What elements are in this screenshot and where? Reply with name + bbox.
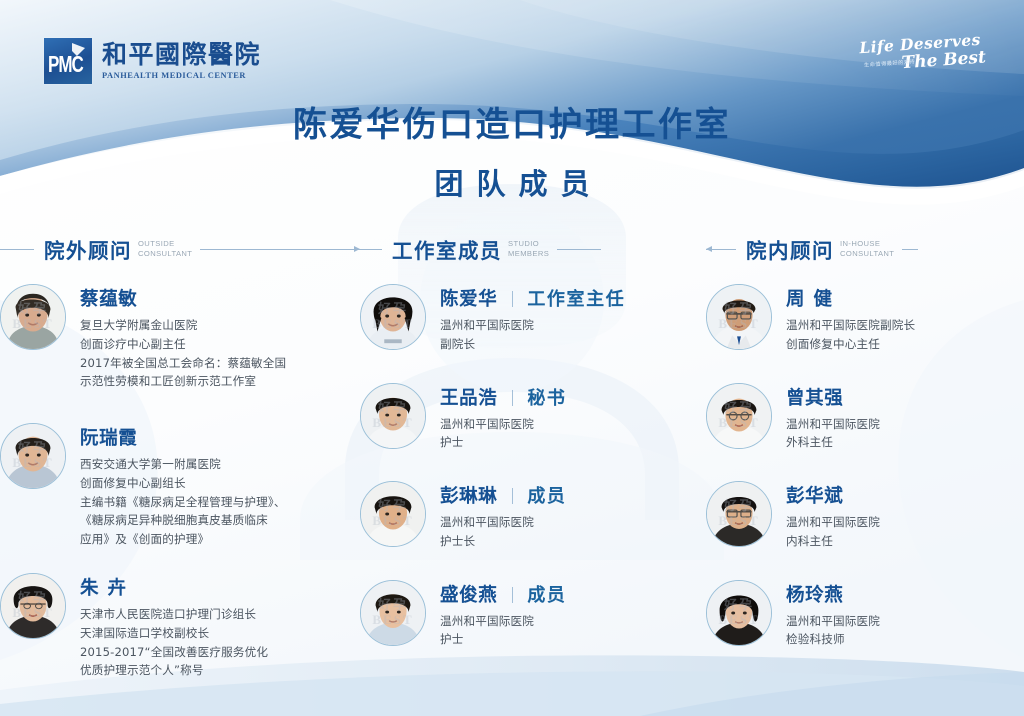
list-item[interactable]: 好孕 BEST 杨玲燕 温州和平国际医院 检验科技师 (706, 580, 1024, 650)
member-details: 西安交通大学第一附属医院 创面修复中心副组长 主编书籍《糖尿病足全程管理与护理》… (80, 455, 286, 549)
detail-line: 护士 (440, 433, 567, 452)
member-info: 蔡蕴敏 复旦大学附属金山医院 创面诊疗中心副主任 2017年被全国总工会命名：蔡… (80, 284, 286, 391)
pmc-logo-mark: PMC (44, 38, 92, 84)
avatar: 好孕 BEST (360, 383, 426, 449)
section-en-line1: IN-HOUSE (840, 239, 894, 249)
list-item[interactable]: 好孕 BEST 王品浩 ｜ 秘书 温州和平国际医院 护士 (360, 383, 706, 453)
avatar: 好孕 BEST (0, 573, 66, 639)
brand-logo: PMC 和平國際醫院 PANHEALTH MEDICAL CENTER (44, 38, 261, 84)
brand-name-en: PANHEALTH MEDICAL CENTER (102, 71, 261, 80)
member-name-line: 周健 (786, 285, 915, 311)
member-details: 温州和平国际医院 外科主任 (786, 415, 880, 453)
member-name-line: 杨玲燕 (786, 581, 880, 607)
detail-line: 副院长 (440, 335, 625, 354)
member-name-line: 朱卉 (80, 574, 268, 600)
member-info: 王品浩 ｜ 秘书 温州和平国际医院 护士 (440, 383, 567, 453)
column-in-house-consultant: 院内顾问 IN-HOUSE CONSULTANT 好孕 BEST (706, 232, 1024, 649)
section-title-cn: 院外顾问 (34, 234, 138, 264)
detail-line: 温州和平国际医院副院长 (786, 316, 915, 335)
member-name: 朱卉 (80, 574, 135, 600)
detail-line: 创面修复中心主任 (786, 335, 915, 354)
member-list: 好孕 BEST 陈爱华 ｜ 工作室主任 温州和平国际医院 副院长 (360, 284, 706, 649)
member-role: 成员 (527, 482, 566, 508)
member-info: 朱卉 天津市人民医院造口护理门诊组长 天津国际造口学校副校长 2015-2017… (80, 573, 268, 680)
member-name-line: 彭华斌 (786, 482, 880, 508)
detail-line: 温州和平国际医院 (440, 612, 567, 631)
detail-line: 天津国际造口学校副校长 (80, 624, 268, 643)
rule-right (557, 249, 601, 250)
member-role: 成员 (527, 581, 566, 607)
detail-line: 温州和平国际医院 (786, 612, 880, 631)
member-info: 陈爱华 ｜ 工作室主任 温州和平国际医院 副院长 (440, 284, 625, 354)
detail-line: 温州和平国际医院 (440, 316, 625, 335)
member-details: 温州和平国际医院 检验科技师 (786, 612, 880, 650)
member-info: 曾其强 温州和平国际医院 外科主任 (786, 383, 880, 453)
list-item[interactable]: 好孕 BEST 朱卉 天津市人民医院造口护理门诊组长 天津国际造口学校副校长 2… (0, 573, 360, 680)
member-info: 彭琳琳 ｜ 成员 温州和平国际医院 护士长 (440, 481, 567, 551)
list-item[interactable]: 好孕 BEST 周健 温州和平国际医院副院长 创面修复中心主任 (706, 284, 1024, 354)
section-en-line1: OUTSIDE (138, 239, 192, 249)
avatar: 好孕 BEST (706, 284, 772, 350)
brand-name-block: 和平國際醫院 PANHEALTH MEDICAL CENTER (102, 42, 261, 80)
rule-left (0, 249, 34, 250)
detail-line: 2017年被全国总工会命名：蔡蕴敏全国 (80, 354, 286, 373)
detail-line: 创面诊疗中心副主任 (80, 335, 286, 354)
member-name-line: 曾其强 (786, 384, 880, 410)
member-info: 周健 温州和平国际医院副院长 创面修复中心主任 (786, 284, 915, 354)
member-details: 温州和平国际医院 护士长 (440, 513, 567, 551)
section-header: 工作室成员 STUDIO MEMBERS (360, 232, 706, 266)
member-role: 工作室主任 (527, 285, 625, 311)
page-title: 陈爱华伤口造口护理工作室 (0, 104, 1024, 147)
detail-line: 主编书籍《糖尿病足全程管理与护理》、 (80, 493, 286, 512)
section-title-en: STUDIO MEMBERS (508, 239, 557, 259)
detail-line: 示范性劳模和工匠创新示范工作室 (80, 372, 286, 391)
avatar: 好孕 BEST (360, 284, 426, 350)
member-name: 陈爱华 (440, 285, 497, 311)
detail-line: 护士 (440, 630, 567, 649)
member-details: 天津市人民医院造口护理门诊组长 天津国际造口学校副校长 2015-2017“全国… (80, 605, 268, 680)
rule-left-arrow (706, 249, 736, 250)
member-name-line: 阮瑞霞 (80, 424, 286, 450)
detail-line: 《糖尿病足异种脱细胞真皮基质临床 (80, 511, 286, 530)
section-en-line2: CONSULTANT (138, 249, 192, 259)
member-details: 温州和平国际医院 副院长 (440, 316, 625, 354)
section-header: 院内顾问 IN-HOUSE CONSULTANT (706, 232, 1024, 266)
detail-line: 温州和平国际医院 (786, 513, 880, 532)
member-details: 温州和平国际医院 内科主任 (786, 513, 880, 551)
member-name: 周健 (786, 285, 841, 311)
list-item[interactable]: 好孕 BEST 曾其强 温州和平国际医院 外科主任 (706, 383, 1024, 453)
avatar: 好孕 BEST (360, 481, 426, 547)
detail-line: 创面修复中心副组长 (80, 474, 286, 493)
list-item[interactable]: 好孕 BEST 阮瑞霞 西安交通大学第一附属医院 创面修复中心副组长 主编书籍《… (0, 423, 360, 549)
member-name-line: 彭琳琳 ｜ 成员 (440, 482, 567, 508)
detail-line: 西安交通大学第一附属医院 (80, 455, 286, 474)
list-item[interactable]: 好孕 BEST 盛俊燕 ｜ 成员 温州和平国际医院 护士 (360, 580, 706, 650)
member-role: 秘书 (527, 384, 566, 410)
name-role-divider: ｜ (504, 385, 520, 409)
member-name: 彭琳琳 (440, 482, 497, 508)
member-name-line: 王品浩 ｜ 秘书 (440, 384, 567, 410)
detail-line: 温州和平国际医院 (440, 513, 567, 532)
page-subtitle: 团队成员 (0, 161, 1024, 203)
detail-line: 复旦大学附属金山医院 (80, 316, 286, 335)
detail-line: 温州和平国际医院 (440, 415, 567, 434)
name-role-divider: ｜ (504, 582, 520, 606)
rule-right-arrow (200, 249, 360, 250)
detail-line: 护士长 (440, 532, 567, 551)
member-details: 复旦大学附属金山医院 创面诊疗中心副主任 2017年被全国总工会命名：蔡蕴敏全国… (80, 316, 286, 391)
section-title-cn: 院内顾问 (736, 234, 840, 264)
detail-line: 外科主任 (786, 433, 880, 452)
list-item[interactable]: 好孕 BEST 彭华斌 温州和平国际医院 内科主任 (706, 481, 1024, 551)
section-title-en: OUTSIDE CONSULTANT (138, 239, 200, 259)
logo-mark-text: PMC (44, 53, 83, 84)
member-name: 彭华斌 (786, 482, 843, 508)
poster-canvas: PMC 和平國際醫院 PANHEALTH MEDICAL CENTER Life… (0, 0, 1024, 716)
avatar: 好孕 BEST (706, 383, 772, 449)
column-outside-consultant: 院外顾问 OUTSIDE CONSULTANT 好孕 BEST (0, 232, 360, 680)
name-role-divider: ｜ (504, 286, 520, 310)
avatar: 好孕 BEST (706, 481, 772, 547)
member-name: 阮瑞霞 (80, 424, 137, 450)
rule-left (360, 249, 382, 250)
detail-line: 检验科技师 (786, 630, 880, 649)
section-title-en: IN-HOUSE CONSULTANT (840, 239, 902, 259)
member-details: 温州和平国际医院副院长 创面修复中心主任 (786, 316, 915, 354)
name-role-divider: ｜ (504, 483, 520, 507)
section-header: 院外顾问 OUTSIDE CONSULTANT (0, 232, 360, 266)
member-name: 王品浩 (440, 384, 497, 410)
title-block: 陈爱华伤口造口护理工作室 团队成员 (0, 104, 1024, 203)
member-details: 温州和平国际医院 护士 (440, 612, 567, 650)
section-title-cn: 工作室成员 (382, 234, 508, 264)
poster-header: PMC 和平國際醫院 PANHEALTH MEDICAL CENTER Life… (0, 0, 1024, 104)
brand-tagline: Life Deserves The Best 生命值得最好的对待 (850, 34, 990, 80)
detail-line: 天津市人民医院造口护理门诊组长 (80, 605, 268, 624)
detail-line: 温州和平国际医院 (786, 415, 880, 434)
section-en-line2: MEMBERS (508, 249, 549, 259)
member-name: 曾其强 (786, 384, 843, 410)
column-studio-members: 工作室成员 STUDIO MEMBERS 好孕 BEST (360, 232, 706, 649)
section-en-line1: STUDIO (508, 239, 549, 249)
member-list: 好孕 BEST 周健 温州和平国际医院副院长 创面修复中心主任 (706, 284, 1024, 649)
member-info: 杨玲燕 温州和平国际医院 检验科技师 (786, 580, 880, 650)
rule-right (902, 249, 918, 250)
avatar: 好孕 BEST (706, 580, 772, 646)
avatar: 好孕 BEST (360, 580, 426, 646)
member-name-line: 陈爱华 ｜ 工作室主任 (440, 285, 625, 311)
list-item[interactable]: 好孕 BEST 蔡蕴敏 复旦大学附属金山医院 创面诊疗中心副主任 2017年被全… (0, 284, 360, 391)
member-info: 彭华斌 温州和平国际医院 内科主任 (786, 481, 880, 551)
list-item[interactable]: 好孕 BEST 陈爱华 ｜ 工作室主任 温州和平国际医院 副院长 (360, 284, 706, 354)
detail-line: 应用》及《创面的护理》 (80, 530, 286, 549)
member-list: 好孕 BEST 蔡蕴敏 复旦大学附属金山医院 创面诊疗中心副主任 2017年被全… (0, 284, 360, 680)
avatar: 好孕 BEST (0, 284, 66, 350)
detail-line: 内科主任 (786, 532, 880, 551)
list-item[interactable]: 好孕 BEST 彭琳琳 ｜ 成员 温州和平国际医院 护士长 (360, 481, 706, 551)
member-info: 阮瑞霞 西安交通大学第一附属医院 创面修复中心副组长 主编书籍《糖尿病足全程管理… (80, 423, 286, 549)
member-name: 盛俊燕 (440, 581, 497, 607)
detail-line: 优质护理示范个人”称号 (80, 661, 268, 680)
member-info: 盛俊燕 ｜ 成员 温州和平国际医院 护士 (440, 580, 567, 650)
member-name: 杨玲燕 (786, 581, 843, 607)
detail-line: 2015-2017“全国改善医疗服务优化 (80, 643, 268, 662)
member-name: 蔡蕴敏 (80, 285, 137, 311)
member-details: 温州和平国际医院 护士 (440, 415, 567, 453)
member-name-line: 蔡蕴敏 (80, 285, 286, 311)
brand-name-cn: 和平國際醫院 (102, 42, 261, 68)
section-en-line2: CONSULTANT (840, 249, 894, 259)
member-name-line: 盛俊燕 ｜ 成员 (440, 581, 567, 607)
avatar: 好孕 BEST (0, 423, 66, 489)
